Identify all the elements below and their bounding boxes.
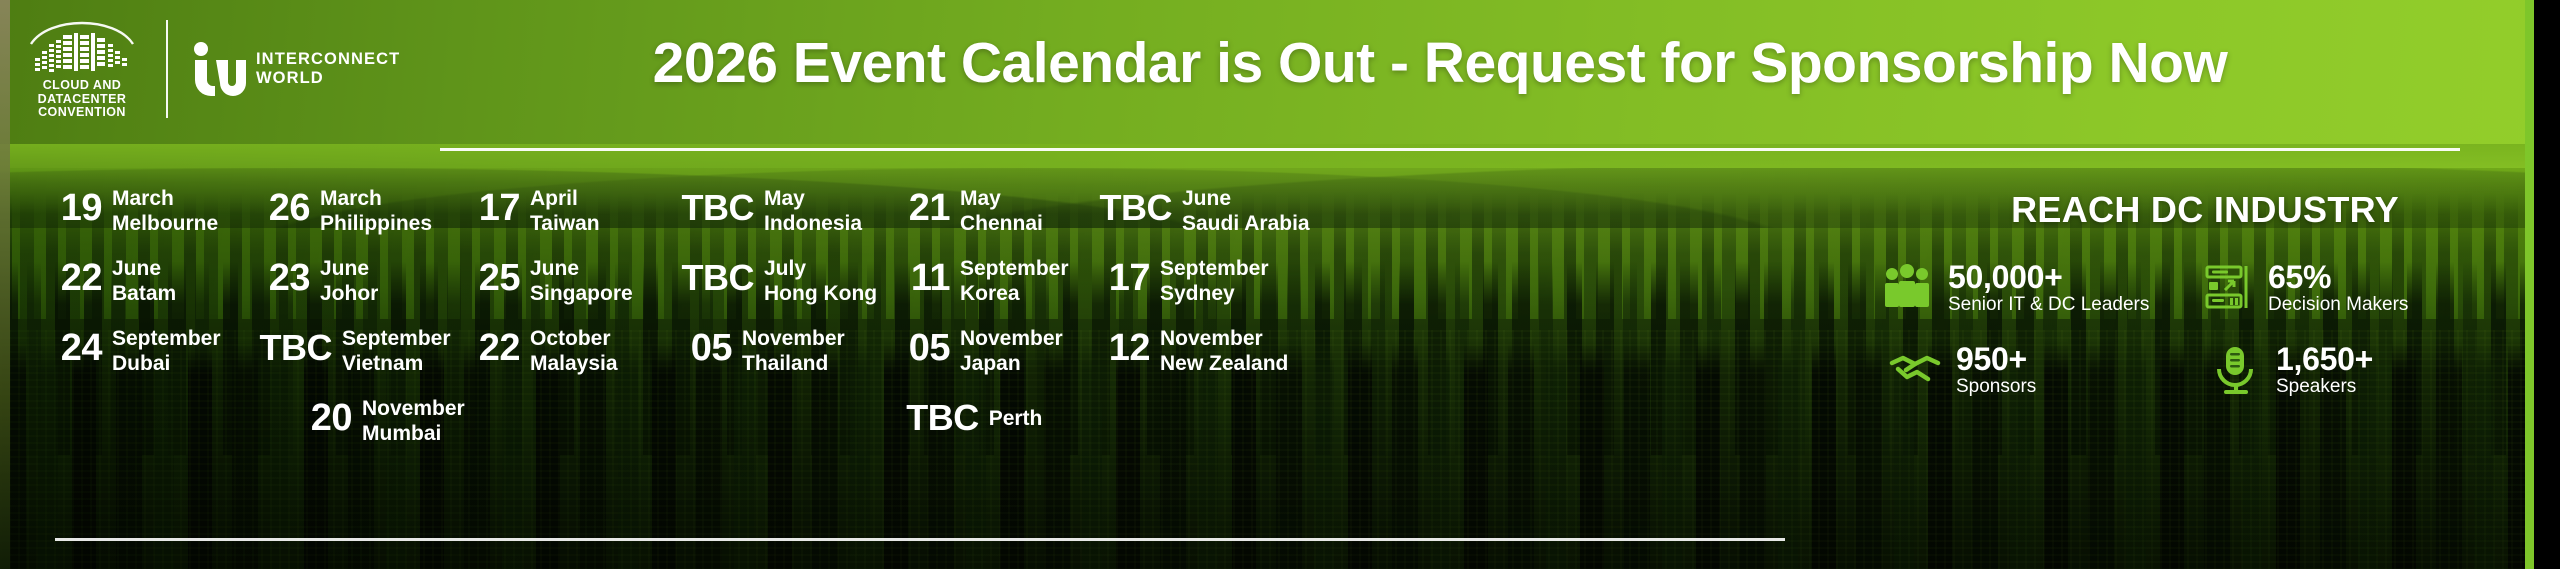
event-day: 23 (248, 252, 310, 298)
event-month: September (1160, 256, 1269, 281)
title-underline-rule (440, 148, 2460, 151)
calendar-row-3: 24 SeptemberDubai TBC SeptemberVietnam 2… (40, 322, 1860, 376)
event-day: TBC (1088, 182, 1172, 228)
iu-monogram-icon (190, 40, 246, 98)
bottom-rule (55, 538, 1785, 541)
calendar-entry[interactable]: 17 SeptemberSydney (1088, 252, 1328, 306)
calendar-entry[interactable]: 26 MarchPhilippines (248, 182, 458, 236)
stat-label: Senior IT & DC Leaders (1948, 294, 2149, 316)
logo-line-1: CLOUD AND (43, 78, 122, 92)
event-calendar-banner: CLOUD AND DATACENTER CONVENTION INTERCON… (0, 0, 2560, 569)
calendar-entry[interactable]: TBC JuneSaudi Arabia (1088, 182, 1328, 236)
logo-line-3: CONVENTION (38, 105, 126, 119)
stat-label: Speakers (2276, 376, 2373, 398)
event-day: TBC (248, 322, 332, 368)
event-month: May (764, 186, 862, 211)
event-day: 11 (888, 252, 950, 298)
event-city: Dubai (112, 351, 221, 376)
logo-line-2: DATACENTER (38, 92, 127, 106)
calendar-entry[interactable]: 11 SeptemberKorea (888, 252, 1088, 306)
calendar-entry[interactable]: 19 MarchMelbourne (40, 182, 248, 236)
stat-item-speakers: 1,650+ Speakers (2208, 342, 2528, 398)
event-city: Japan (960, 351, 1063, 376)
stat-label: Decision Makers (2268, 294, 2408, 316)
people-icon (1880, 261, 1934, 315)
event-day: TBC (895, 392, 979, 438)
logo-lockup[interactable]: CLOUD AND DATACENTER CONVENTION INTERCON… (22, 18, 400, 120)
event-month: June (320, 256, 378, 281)
event-month: November (1160, 326, 1288, 351)
calendar-entry[interactable]: TBC Perth (895, 392, 1043, 438)
right-black-edge (2534, 0, 2560, 569)
calendar-row-4: 20 NovemberMumbai TBC Perth (40, 392, 1860, 446)
event-day: TBC (670, 182, 754, 228)
calendar-entry[interactable]: 12 NovemberNew Zealand (1088, 322, 1328, 376)
stat-item-sponsors: 950+ Sponsors (1888, 342, 2208, 398)
stat-label: Sponsors (1956, 376, 2036, 398)
stat-value: 50,000+ (1948, 260, 2149, 294)
event-day: 17 (1088, 252, 1150, 298)
event-month: March (112, 186, 218, 211)
event-day: 05 (670, 322, 732, 368)
calendar-row-2: 22 JuneBatam 23 JuneJohor 25 JuneSingapo… (40, 252, 1860, 306)
event-day: 21 (888, 182, 950, 228)
server-rack-icon (2200, 261, 2254, 315)
reach-stats-panel: REACH DC INDUSTRY 50,000+ Senior IT & DC… (1880, 190, 2530, 424)
calendar-entry[interactable]: 05 NovemberThailand (670, 322, 888, 376)
event-day: 05 (888, 322, 950, 368)
event-city: Saudi Arabia (1182, 211, 1310, 236)
stat-value: 1,650+ (2276, 342, 2373, 376)
event-month: November (362, 396, 465, 421)
stats-grid: 50,000+ Senior IT & DC Leaders (1880, 260, 2530, 424)
calendar-entry[interactable]: 22 OctoberMalaysia (458, 322, 670, 376)
event-day: 17 (458, 182, 520, 228)
event-city: Korea (960, 281, 1069, 306)
event-day: 26 (248, 182, 310, 228)
calendar-entry[interactable]: 21 MayChennai (888, 182, 1088, 236)
calendar-entry[interactable]: 20 NovemberMumbai (290, 392, 465, 446)
calendar-entry[interactable]: 23 JuneJohor (248, 252, 458, 306)
event-month: April (530, 186, 600, 211)
event-day: 20 (290, 392, 352, 438)
iw-line-2: WORLD (256, 69, 324, 87)
interconnect-world-logo[interactable]: INTERCONNECT WORLD (190, 40, 400, 98)
stat-value: 950+ (1956, 342, 2036, 376)
event-day: 19 (40, 182, 102, 228)
event-city: Malaysia (530, 351, 618, 376)
calendar-entry[interactable]: 17 AprilTaiwan (458, 182, 670, 236)
event-city: Hong Kong (764, 281, 877, 306)
event-day: 24 (40, 322, 102, 368)
event-month: September (342, 326, 451, 351)
event-month: March (320, 186, 432, 211)
event-city: Johor (320, 281, 378, 306)
event-city: Perth (989, 406, 1043, 431)
event-city: Sydney (1160, 281, 1269, 306)
event-city: Indonesia (764, 211, 862, 236)
iw-line-1: INTERCONNECT (256, 50, 400, 68)
event-day: TBC (670, 252, 754, 298)
event-month: June (112, 256, 176, 281)
event-city: Thailand (742, 351, 845, 376)
stats-title: REACH DC INDUSTRY (1880, 190, 2530, 230)
logo-divider (166, 20, 168, 118)
event-month: May (960, 186, 1043, 211)
handshake-icon (1888, 343, 1942, 397)
event-city: New Zealand (1160, 351, 1288, 376)
page-title: 2026 Event Calendar is Out - Request for… (440, 32, 2440, 94)
stat-item-attendees: 50,000+ Senior IT & DC Leaders (1880, 260, 2200, 316)
stat-item-decision-makers: 65% Decision Makers (2200, 260, 2520, 316)
calendar-entry[interactable]: TBC SeptemberVietnam (248, 322, 458, 376)
calendar-entry[interactable]: 24 SeptemberDubai (40, 322, 248, 376)
event-month: November (742, 326, 845, 351)
event-day: 25 (458, 252, 520, 298)
cloud-datacenter-convention-logo[interactable]: CLOUD AND DATACENTER CONVENTION (22, 18, 142, 120)
event-month: September (960, 256, 1069, 281)
event-city: Batam (112, 281, 176, 306)
calendar-entry[interactable]: 25 JuneSingapore (458, 252, 670, 306)
calendar-entry[interactable]: TBC JulyHong Kong (670, 252, 888, 306)
logo-text: CLOUD AND DATACENTER CONVENTION (38, 79, 127, 120)
calendar-entry[interactable]: 22 JuneBatam (40, 252, 248, 306)
event-city: Philippines (320, 211, 432, 236)
event-city: Vietnam (342, 351, 451, 376)
calendar-entry[interactable]: 05 NovemberJapan (888, 322, 1088, 376)
stat-value: 65% (2268, 260, 2408, 294)
event-day: 22 (40, 252, 102, 298)
event-city: Singapore (530, 281, 633, 306)
event-month: November (960, 326, 1063, 351)
event-month: July (764, 256, 877, 281)
event-calendar-grid: 19 MarchMelbourne 26 MarchPhilippines 17… (40, 182, 1860, 512)
calendar-row-1: 19 MarchMelbourne 26 MarchPhilippines 17… (40, 182, 1860, 236)
interconnect-world-text: INTERCONNECT WORLD (256, 50, 400, 88)
datacenter-skyline-icon (27, 18, 137, 74)
event-city: Mumbai (362, 421, 465, 446)
event-month: June (1182, 186, 1310, 211)
calendar-entry[interactable]: TBC MayIndonesia (670, 182, 888, 236)
microphone-icon (2208, 343, 2262, 397)
event-city: Taiwan (530, 211, 600, 236)
left-edge-strip (0, 0, 10, 569)
event-month: October (530, 326, 618, 351)
event-day: 22 (458, 322, 520, 368)
event-month: June (530, 256, 633, 281)
event-city: Chennai (960, 211, 1043, 236)
event-city: Melbourne (112, 211, 218, 236)
event-day: 12 (1088, 322, 1150, 368)
event-month: September (112, 326, 221, 351)
